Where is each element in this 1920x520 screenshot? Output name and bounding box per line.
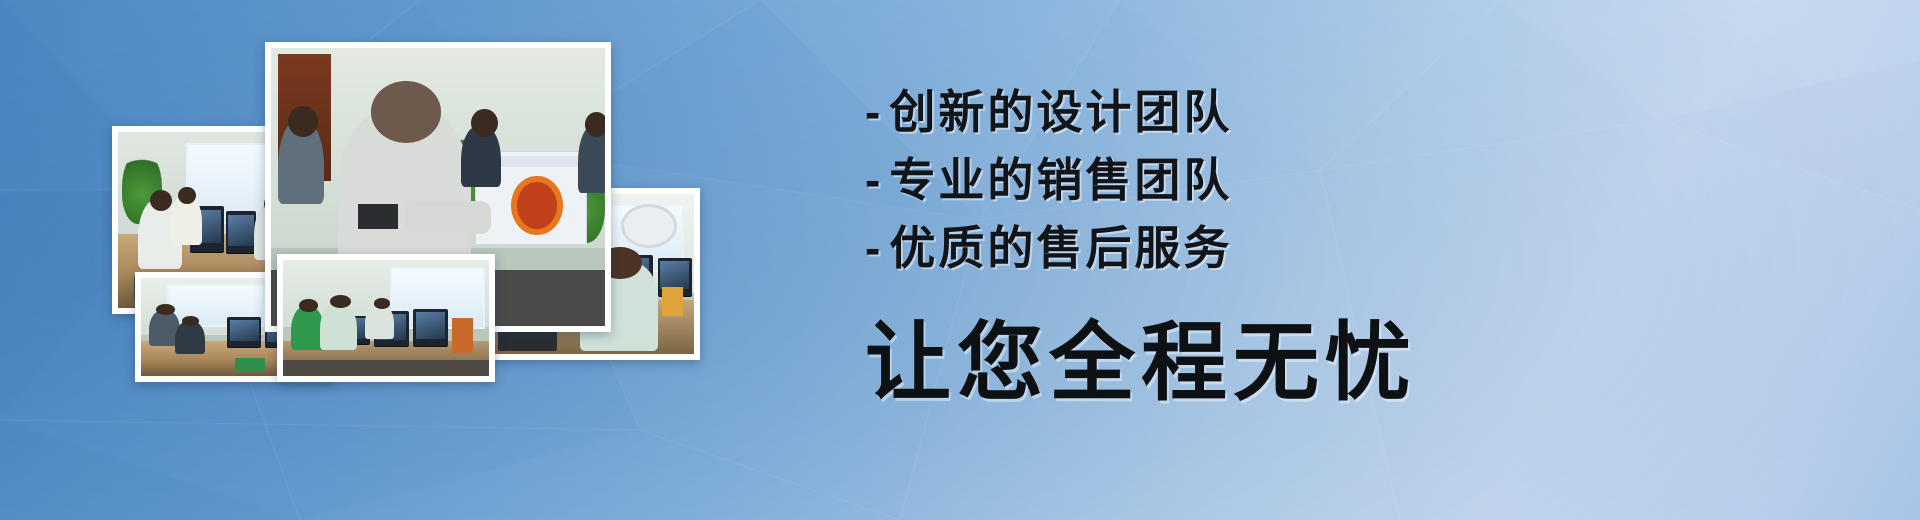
bullet-label-1: 创新的设计团队 xyxy=(889,86,1232,138)
bullet-item-3: -优质的售后服务 xyxy=(865,212,1232,278)
banner-headline: 让您全程无忧 xyxy=(865,292,1417,417)
bullet-item-1: -创新的设计团队 xyxy=(865,76,1232,142)
banner-text-block: -创新的设计团队 -专业的销售团队 -优质的售后服务 让您全程无忧 xyxy=(855,0,1865,520)
bullet-dash-1: - xyxy=(865,85,883,139)
photo-team-mid xyxy=(277,254,495,382)
bullet-dash-2: - xyxy=(865,153,883,207)
bullet-dash-3: - xyxy=(865,221,883,275)
bullet-label-2: 专业的销售团队 xyxy=(889,154,1232,206)
bullet-label-3: 优质的售后服务 xyxy=(889,222,1232,274)
promo-banner: -创新的设计团队 -专业的销售团队 -优质的售后服务 让您全程无忧 xyxy=(0,0,1920,520)
photo-collage xyxy=(0,0,760,520)
bullet-item-2: -专业的销售团队 xyxy=(865,144,1232,210)
